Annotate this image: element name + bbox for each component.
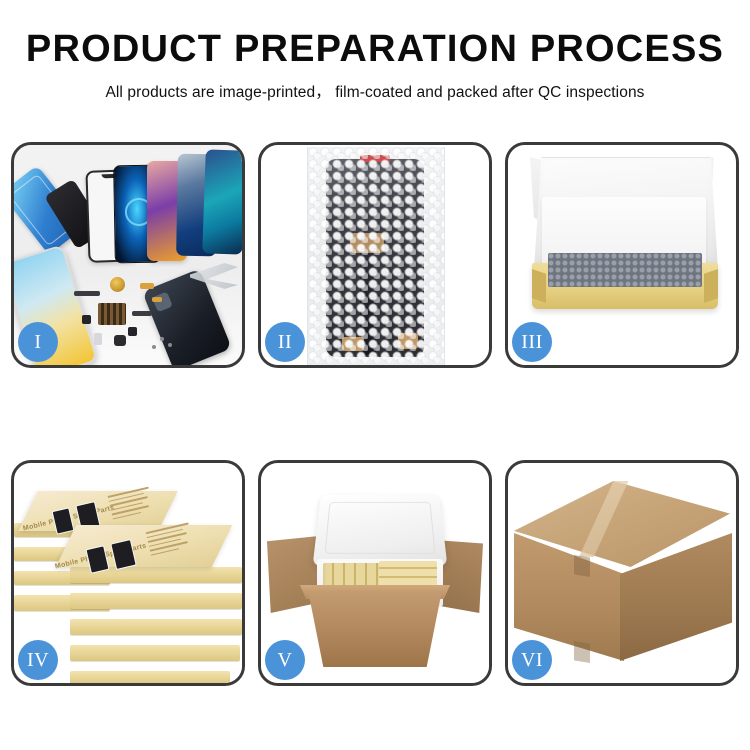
stack-box-r4 [70, 645, 240, 661]
stack-box-r5 [70, 671, 230, 683]
process-step-panel-4: Mobile Phone Spare Parts Mobile Phone Sp… [11, 460, 245, 686]
part-small-module [128, 327, 137, 336]
part-chip-array [98, 303, 126, 325]
step-badge-4: IV [18, 640, 58, 680]
tray-edge-right [704, 269, 718, 303]
page-subtitle: All products are image-printed， film-coa… [0, 80, 750, 102]
step-badge-2: II [265, 322, 305, 362]
spare-parts-cluster [74, 275, 184, 359]
phone-teal-wave [202, 149, 242, 254]
stack-box-r2 [70, 593, 242, 609]
step-badge-1: I [18, 322, 58, 362]
carton-front-face [299, 591, 451, 667]
page-title: PRODUCT PREPARATION PROCESS [0, 30, 750, 70]
process-step-panel-1: I [11, 142, 245, 368]
process-step-panel-3: III [505, 142, 739, 368]
step-badge-5: V [265, 640, 305, 680]
part-vibration-motor [110, 277, 125, 292]
part-sim-tray [94, 333, 102, 345]
part-gold-contact [152, 297, 162, 302]
bubble-texture-secondary [308, 147, 444, 365]
foam-bubble-insert [548, 253, 702, 287]
stack-box-r3 [70, 619, 242, 635]
part-speaker [114, 335, 126, 346]
bubble-wrap-bag [307, 147, 445, 365]
part-screw-2 [168, 343, 172, 347]
part-gold-connector [140, 283, 154, 289]
page-header: PRODUCT PREPARATION PROCESS All products… [0, 0, 750, 102]
process-step-panel-2: II [258, 142, 492, 368]
carton-crease-lower [574, 641, 590, 663]
foam-cooler-lid [313, 495, 448, 567]
tray-edge-left [532, 269, 546, 303]
part-camera-flex [132, 311, 152, 316]
process-step-panel-6: VI [505, 460, 739, 686]
part-flex-strip [74, 291, 100, 296]
carton-crease-upper [574, 555, 590, 577]
process-steps-grid: I II [11, 142, 739, 686]
part-screw-1 [160, 337, 164, 341]
product-preparation-page: PRODUCT PREPARATION PROCESS All products… [0, 0, 750, 750]
step-badge-3: III [512, 322, 552, 362]
process-step-panel-5: V [258, 460, 492, 686]
step-badge-6: VI [512, 640, 552, 680]
part-screw-3 [152, 345, 156, 349]
gold-box-tray [532, 263, 718, 309]
part-ic-chip [82, 315, 91, 324]
